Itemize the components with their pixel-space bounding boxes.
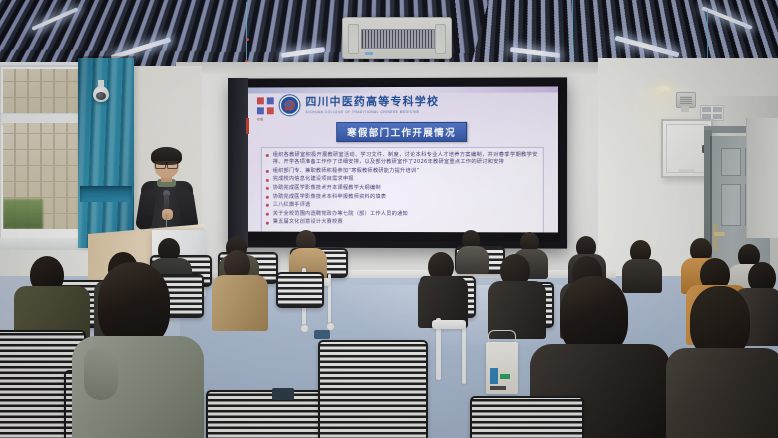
cabinet-label (679, 169, 695, 172)
bullet-dot-icon (266, 187, 269, 190)
list-item (98, 262, 170, 348)
list-item (30, 256, 64, 294)
chair-writing-tablet (432, 320, 466, 329)
bullet-text: 完成校内信息化建设项目需求申报 (273, 176, 538, 183)
bullet-text: 三八红旗手评选 (273, 202, 538, 210)
list-item (748, 262, 776, 293)
curtain-tieback (80, 186, 132, 202)
list-item (500, 254, 530, 287)
ceiling-air-conditioner (342, 17, 452, 59)
outlet-socket[interactable] (713, 114, 722, 119)
chair-backrest (276, 272, 324, 308)
list-item: 协助完成医学影像技术本科申报教师资料的填表 (266, 193, 538, 201)
school-name-en: SICHUAN COLLEGE OF TRADITIONAL CHINESE M… (305, 109, 439, 113)
list-item (520, 232, 539, 253)
seal-decoration-icon (257, 97, 274, 114)
door-handle[interactable] (714, 232, 725, 236)
ac-indicator-led (365, 52, 373, 55)
outdoor-foliage (3, 199, 43, 229)
chair[interactable] (276, 272, 324, 308)
list-item: 完成校内信息化建设项目需求申报 (266, 176, 538, 183)
bullet-text: 协助完成医学影像技术本科申报教师资料的填表 (273, 193, 538, 201)
bag-print (490, 386, 506, 390)
list-item: 组织各教研室积极开展教研室活动、学习文件、制度，讨论本科专业人才培养方案编制，并… (266, 152, 538, 166)
right-wall-column (746, 118, 778, 238)
chair-caster (300, 324, 309, 333)
list-item (576, 236, 596, 258)
tote-bag[interactable] (486, 342, 518, 394)
bullet-dot-icon (266, 221, 269, 224)
presenter (136, 150, 200, 232)
door-panel (721, 148, 741, 176)
bullet-text: 组织各教研室积极开展教研室活动、学习文件、制度，讨论本科专业人才培养方案编制，并… (273, 152, 538, 166)
list-item (158, 238, 180, 262)
lecture-room-photo: 四川中医药高等专科学校 SICHUAN COLLEGE OF TRADITION… (0, 0, 778, 438)
list-item: 三八红旗手评选 (266, 202, 538, 210)
list-item (690, 286, 750, 358)
mobile-phone[interactable] (272, 388, 294, 400)
list-item (296, 230, 316, 252)
list-item (630, 240, 651, 263)
slide-title: 寒假部门工作开展情况 (336, 122, 467, 142)
list-item: 组织部门专、兼职教师积极参加“寒假教师教研能力提升培训” (266, 168, 538, 175)
ac-vane (435, 24, 446, 54)
list-item (560, 276, 628, 356)
school-name-cn: 四川中医药高等专科学校 (305, 96, 439, 107)
window-pane-upper (3, 69, 85, 113)
projection-screen[interactable]: 四川中医药高等专科学校 SICHUAN COLLEGE OF TRADITION… (229, 77, 567, 248)
bullet-dot-icon (266, 178, 269, 181)
list-item (428, 252, 454, 281)
door-panel (721, 184, 741, 226)
screen-edge-marker (246, 118, 249, 134)
speaker-bracket (681, 106, 689, 112)
bag-print (490, 368, 498, 384)
list-item: 第五届文化创意设计大赛校赛 (266, 219, 538, 227)
ceiling-cable (246, 2, 247, 66)
ceiling-cable (572, 0, 573, 58)
bag-print (500, 374, 510, 379)
school-emblem-icon (279, 94, 301, 116)
window-pane-lower (3, 123, 85, 229)
ceiling-cable (707, 10, 708, 62)
door-lock-plate (713, 224, 718, 250)
chair-leg (462, 326, 466, 384)
ceiling-indicator-dot (246, 38, 249, 41)
presentation-slide: 四川中医药高等专科学校 SICHUAN COLLEGE OF TRADITION… (247, 86, 558, 232)
bullet-dot-icon (266, 213, 269, 216)
person-torso (622, 259, 662, 293)
list-item (462, 230, 480, 250)
bullet-text: 组织部门专、兼职教师积极参加“寒假教师教研能力提升培训” (273, 168, 538, 175)
eyeglasses-icon (155, 161, 178, 167)
person-hood (84, 346, 118, 400)
slide-bullet-list: 组织各教研室积极开展教研室活动、学习文件、制度，讨论本科专业人才培养方案编制，并… (261, 147, 544, 233)
downlight-icon (656, 86, 670, 91)
list-item (224, 250, 250, 280)
list-item: 关于全校范围内选聘党政办等七院（部）工作人员的通知 (266, 210, 538, 218)
person-torso (456, 246, 489, 274)
bullet-text: 第五届文化创意设计大赛校赛 (273, 219, 538, 227)
mobile-phone[interactable] (314, 330, 330, 339)
bullet-dot-icon (266, 154, 269, 157)
seal-caption: 校徽 (257, 117, 263, 121)
dome-camera-icon (93, 86, 109, 102)
outlet-socket[interactable] (702, 107, 711, 112)
person-torso (212, 275, 268, 331)
outlet-socket[interactable] (713, 107, 722, 112)
window-curtain (78, 58, 134, 248)
chair-backrest (470, 396, 584, 438)
bullet-dot-icon (266, 196, 269, 199)
list-item: 协助完成医学影像技术开本课程教学大纲编制 (266, 185, 538, 193)
ac-grille-icon (361, 29, 435, 49)
bullet-dot-icon (266, 204, 269, 207)
bullet-dot-icon (266, 170, 269, 173)
chair-backrest (318, 340, 428, 438)
chair[interactable] (470, 396, 584, 438)
slide-surface: 四川中医药高等专科学校 SICHUAN COLLEGE OF TRADITION… (247, 86, 558, 232)
chair[interactable] (318, 340, 428, 438)
bullet-text: 协助完成医学影像技术开本课程教学大纲编制 (273, 185, 538, 192)
person-torso (666, 348, 778, 438)
slide-header: 四川中医药高等专科学校 SICHUAN COLLEGE OF TRADITION… (255, 91, 550, 120)
window-grille-icon (3, 69, 85, 113)
presenter-hand (162, 209, 173, 220)
screen-side-frame (228, 78, 248, 248)
ac-vane (348, 24, 359, 54)
bullet-text: 关于全校范围内选聘党政办等七院（部）工作人员的通知 (273, 211, 538, 219)
wall-soffit (176, 62, 616, 74)
